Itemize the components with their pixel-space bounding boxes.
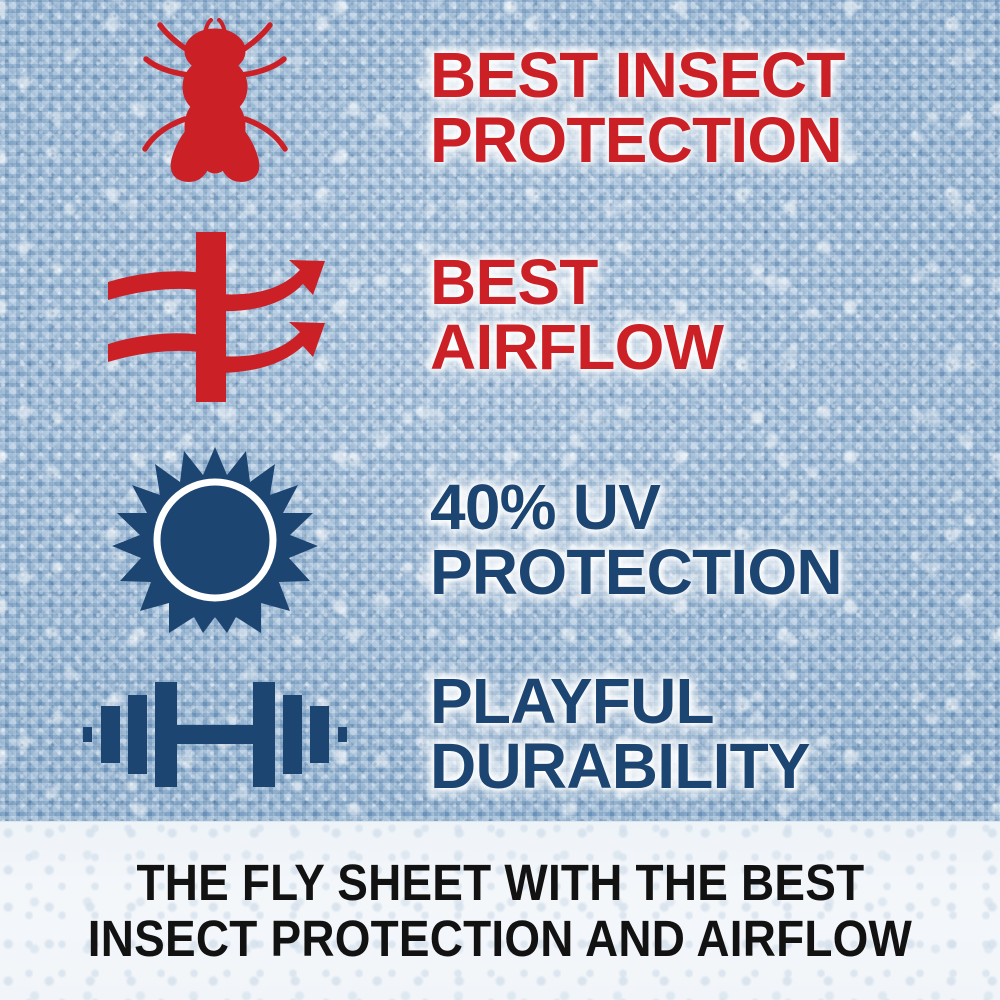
feature-icon-cell-airflow — [0, 212, 430, 417]
product-feature-poster: BEST INSECT PROTECTION — [0, 0, 1000, 1000]
feature-label-line-2: DURABILITY — [430, 734, 1000, 799]
feature-label-line-2: PROTECTION — [430, 540, 1000, 605]
feature-label-line-2: AIRFLOW — [430, 315, 1000, 380]
feature-label-line-1: BEST INSECT — [430, 43, 1000, 108]
caption-line-1: THE FLY SHEET WITH THE BEST — [136, 855, 864, 911]
feature-icon-cell-insect — [0, 10, 430, 205]
caption-bar: THE FLY SHEET WITH THE BEST INSECT PROTE… — [0, 821, 1000, 1000]
caption-line-2: INSECT PROTECTION AND AIRFLOW — [88, 911, 912, 967]
feature-icon-cell-durability — [0, 650, 430, 818]
sun-uv-icon — [110, 445, 320, 635]
fly-icon — [130, 15, 300, 200]
dumbbell-icon — [81, 669, 349, 799]
feature-text-cell-durability: PLAYFUL DURABILITY — [430, 669, 1000, 799]
feature-label-line-1: 40% UV — [430, 475, 1000, 540]
feature-text-cell-airflow: BEST AIRFLOW — [430, 250, 1000, 380]
airflow-arrows-icon — [100, 220, 330, 410]
feature-label-line-1: BEST — [430, 250, 1000, 315]
feature-row-insect-protection: BEST INSECT PROTECTION — [0, 10, 1000, 205]
feature-text-cell-uv: 40% UV PROTECTION — [430, 475, 1000, 605]
feature-row-uv-protection: 40% UV PROTECTION — [0, 432, 1000, 647]
feature-row-durability: PLAYFUL DURABILITY — [0, 650, 1000, 818]
feature-label-line-2: PROTECTION — [430, 108, 1000, 173]
feature-text-cell-insect: BEST INSECT PROTECTION — [430, 43, 1000, 173]
feature-icon-cell-uv — [0, 432, 430, 647]
feature-row-airflow: BEST AIRFLOW — [0, 212, 1000, 417]
feature-label-line-1: PLAYFUL — [430, 669, 1000, 734]
